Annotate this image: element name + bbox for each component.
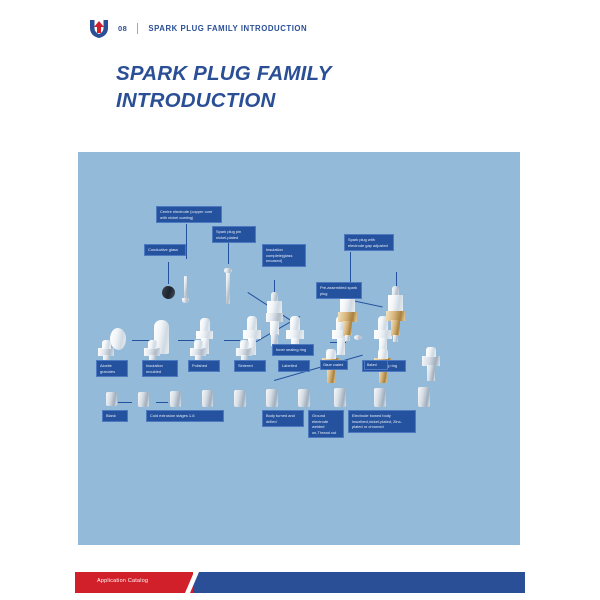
part-gap-adjusted-thread <box>391 320 400 336</box>
label-baked: Baked <box>364 360 388 370</box>
label-labelled: Labelled <box>278 360 310 372</box>
part-mid-plug3-insulator <box>194 340 203 349</box>
leader-line-centre-electrode <box>186 224 187 259</box>
label-insulation-moulded: Insulation moulded <box>142 360 178 377</box>
leader-line-row2-a <box>118 402 132 403</box>
label-glaze-coated: Glaze coated <box>320 360 348 370</box>
part-preassembled-insulator <box>340 297 355 313</box>
label-blank: Blank <box>102 410 128 422</box>
part-extrusion-5 <box>266 389 278 407</box>
part-spark-plug-pin-head <box>224 268 232 273</box>
label-insulation-complete: Insulation complete(glass encased) <box>262 244 306 267</box>
label-pre-assembled: Pre-assembled spark plug <box>316 282 362 299</box>
header-section-title: SPARK PLUG FAMILY INTRODUCTION <box>148 24 307 33</box>
leader-line-row1-c <box>224 340 240 341</box>
leader-line-row2-b <box>156 402 168 403</box>
leader-line-conductive-glass <box>168 262 169 284</box>
spark-plug-family-diagram: Centre electrode (copper core with nicke… <box>78 152 520 545</box>
footer-label: Application Catalog <box>97 578 148 584</box>
label-body-turned: Body turned and drilled <box>262 410 304 427</box>
part-mid-plug2-insulator <box>148 340 157 349</box>
label-ground-electrode: Ground electrode welded on,Thread cut <box>308 410 344 438</box>
part-lower-plug2-insulator <box>378 349 388 359</box>
part-extrusion-4 <box>234 390 246 407</box>
part-lower-plug3-insulator <box>426 347 436 357</box>
page-title: SPARK PLUG FAMILY INTRODUCTION <box>116 60 446 114</box>
leader-line-row1-b <box>178 340 194 341</box>
page-root: 08 SPARK PLUG FAMILY INTRODUCTION SPARK … <box>0 0 600 600</box>
part-ground-electrode <box>374 388 386 407</box>
part-mid-plug4-insulator <box>240 340 249 349</box>
part-mid-plug1-insulator <box>102 340 111 349</box>
label-polished: Polished <box>188 360 220 372</box>
part-body-turned <box>334 388 346 407</box>
leader-line-spark-plug-pin <box>228 242 229 264</box>
part-electrode-bowed <box>418 387 430 407</box>
part-polished-top <box>200 318 210 332</box>
label-centre-electrode: Centre electrode (copper core with nicke… <box>156 206 222 223</box>
page-title-line1: SPARK PLUG FAMILY <box>116 62 332 85</box>
diagram-canvas: Centre electrode (copper core with nicke… <box>78 152 520 545</box>
page-title-line2: INTRODUCTION <box>116 87 446 114</box>
label-electrode-bowed: Electrode bowed body inscribed,nickel-pl… <box>348 410 416 433</box>
company-logo-icon <box>88 18 110 39</box>
part-extrusion-2 <box>170 391 181 407</box>
label-gap-adjusted: Spark plug with electrode gap adjusted <box>344 234 394 251</box>
label-inner-sealing-ring: Inner sealing ring <box>272 344 314 356</box>
part-outer-sealing-ring <box>354 335 362 340</box>
part-conductive-glass <box>162 286 175 299</box>
part-gap-adjusted-tip <box>393 335 398 342</box>
part-centre-electrode-foot <box>182 298 189 303</box>
part-gap-adjusted-insulator <box>388 295 403 312</box>
part-insulation-complete-nose <box>270 321 279 335</box>
footer-blue-band <box>183 572 525 593</box>
label-spark-plug-pin: Spark plug pin nickel-plated <box>212 226 256 243</box>
part-lower-plug3-thread <box>427 365 435 381</box>
label-aloxite-granules: Aloxite granules <box>96 360 128 377</box>
page-footer: Application Catalog <box>75 572 525 593</box>
part-extrusion-6 <box>298 389 310 407</box>
part-preassembled-tip <box>345 335 350 341</box>
part-spark-plug-pin <box>226 270 230 304</box>
header-page-number: 08 <box>118 24 127 33</box>
label-cold-extrusion: Cold extrusion stages 1-6 <box>146 410 224 422</box>
part-extrusion-1 <box>138 392 149 407</box>
leader-line-insulation-complete <box>274 280 275 292</box>
part-blank <box>106 392 117 406</box>
page-header: 08 SPARK PLUG FAMILY INTRODUCTION <box>88 17 307 39</box>
part-sintered-top <box>247 316 257 331</box>
part-aloxite-granules <box>110 328 126 350</box>
part-extrusion-3 <box>202 390 213 407</box>
part-glaze-coated-body <box>337 338 345 355</box>
label-conductive-glass: Conductive glass <box>144 244 186 256</box>
part-lower-plug1-insulator <box>326 349 336 359</box>
part-labelled-top <box>290 316 300 331</box>
label-sintered: Sintered <box>234 360 266 372</box>
part-preassembled-thread <box>343 321 352 336</box>
header-divider <box>137 23 138 34</box>
